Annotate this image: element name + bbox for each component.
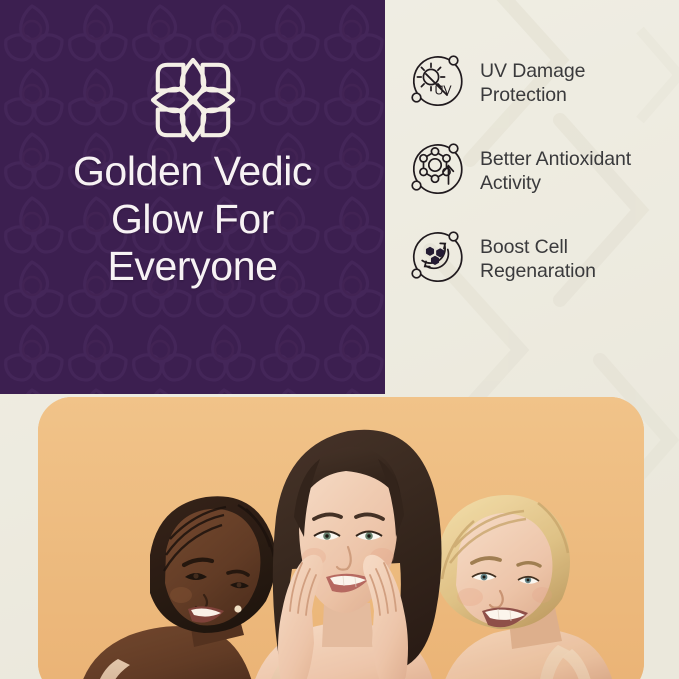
product-lifestyle-photo xyxy=(38,397,644,679)
feature-label-better-antioxidant-activity: Better Antioxidant Activity xyxy=(480,140,631,196)
purple-hero-panel: Golden Vedic Glow For Everyone xyxy=(0,0,385,394)
feature-item-uv-damage-protection: UV UV Damage Protection xyxy=(404,52,676,110)
feature-label-line-2: Regenaration xyxy=(480,260,596,282)
feature-label-line-2: Protection xyxy=(480,84,567,106)
feature-label-line-2: Activity xyxy=(480,172,541,194)
cell-regeneration-icon xyxy=(404,224,466,286)
advertisement-banner: Golden Vedic Glow For Everyone xyxy=(0,0,679,679)
antioxidant-molecule-icon xyxy=(404,136,466,198)
feature-label-boost-cell-regenaration: Boost Cell Regenaration xyxy=(480,228,596,284)
headline-line-3: Everyone xyxy=(12,243,373,291)
feature-label-line-1: Better Antioxidant xyxy=(480,148,631,170)
uv-icon-label: UV xyxy=(435,84,453,98)
feature-item-boost-cell-regenaration: Boost Cell Regenaration xyxy=(404,228,676,286)
golden-vedic-ornament-logo xyxy=(145,52,241,148)
feature-list: UV UV Damage Protection xyxy=(404,52,676,316)
three-women-photo xyxy=(38,397,644,679)
feature-label-line-1: Boost Cell xyxy=(480,236,568,258)
feature-label-uv-damage-protection: UV Damage Protection xyxy=(480,52,585,108)
headline-line-2: Glow For xyxy=(12,196,373,244)
headline: Golden Vedic Glow For Everyone xyxy=(0,148,385,291)
feature-label-line-1: UV Damage xyxy=(480,60,585,82)
uv-protection-icon: UV xyxy=(404,48,466,110)
brand-logo xyxy=(0,52,385,148)
headline-line-1: Golden Vedic xyxy=(12,148,373,196)
feature-item-better-antioxidant-activity: Better Antioxidant Activity xyxy=(404,140,676,198)
